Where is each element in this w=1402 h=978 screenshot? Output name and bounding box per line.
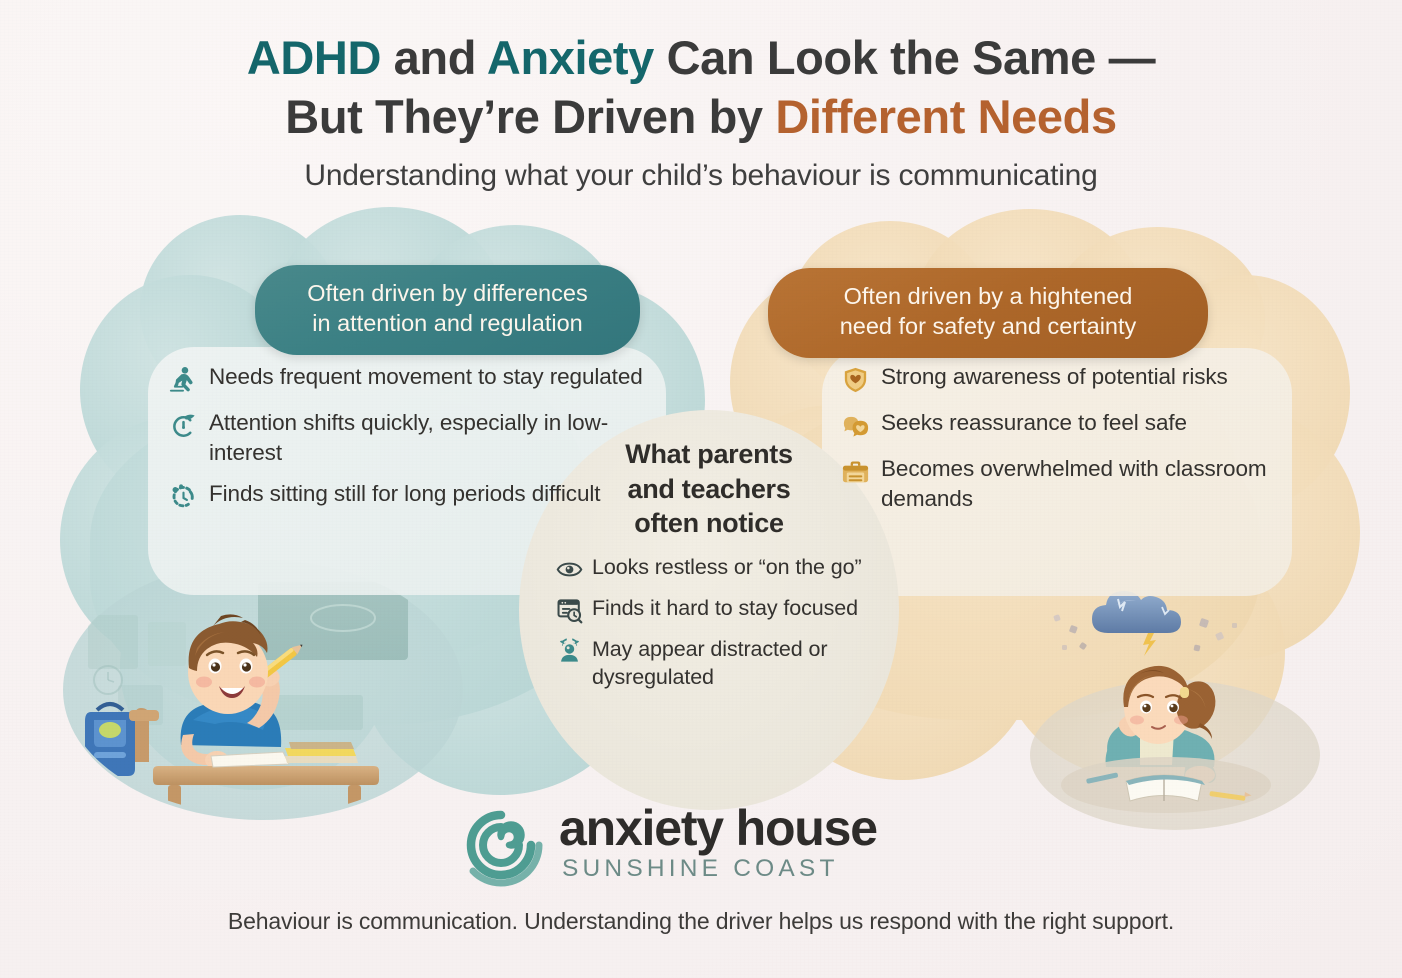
list-item: Finds it hard to stay focused	[556, 594, 866, 624]
spiral-swirl-logo-icon	[455, 799, 547, 891]
right-column-header-pill: Often driven by a hightened need for saf…	[768, 268, 1208, 358]
page-title: ADHD and Anxiety Can Look the Same — But…	[0, 28, 1402, 193]
list-item: Strong awareness of potential risks	[840, 362, 1280, 396]
page-subtitle: Understanding what your child’s behaviou…	[0, 159, 1402, 193]
list-item-label: May appear distracted or dysregulated	[592, 635, 866, 692]
center-column-list: Looks restless or “on the go” Finds it h…	[556, 553, 866, 703]
center-column-heading: What parents and teachers often notice	[544, 437, 874, 541]
title-line-1: ADHD and Anxiety Can Look the Same —	[0, 28, 1402, 87]
title-line-2: But They’re Driven by Different Needs	[0, 87, 1402, 146]
title-accent-different-needs: Different Needs	[775, 90, 1116, 143]
list-item-label: Seeks reassurance to feel safe	[881, 408, 1187, 438]
title-line-2-lead: But They’re Driven by	[285, 90, 775, 143]
list-item: Looks restless or “on the go”	[556, 553, 866, 583]
list-item-label: Needs frequent movement to stay regulate…	[209, 362, 643, 392]
list-item-label: Finds it hard to stay focused	[592, 594, 858, 622]
right-pill-line-2: need for safety and certainty	[794, 311, 1182, 341]
list-item-label: Finds sitting still for long periods dif…	[209, 479, 600, 509]
list-item: Seeks reassurance to feel safe	[840, 408, 1280, 442]
worried-girl-illustration	[1030, 585, 1330, 830]
shield-heart-icon	[840, 365, 871, 396]
person-rotating-arrows-icon	[556, 638, 583, 665]
boy-at-desk-illustration	[63, 560, 463, 835]
infographic-poster: ADHD and Anxiety Can Look the Same — But…	[0, 0, 1402, 978]
list-item-label: Looks restless or “on the go”	[592, 553, 862, 581]
running-person-icon	[168, 365, 199, 396]
title-line-1-rest: Can Look the Same —	[654, 31, 1155, 84]
right-column-list: Strong awareness of potential risks Seek…	[840, 362, 1280, 525]
title-word-and: and	[381, 31, 487, 84]
center-heading-line-1: What parents	[544, 437, 874, 472]
right-pill-line-1: Often driven by a hightened	[794, 281, 1182, 311]
list-item: Becomes overwhelmed with classroom deman…	[840, 454, 1280, 513]
title-word-anxiety: Anxiety	[487, 31, 654, 84]
window-search-clock-icon	[556, 597, 583, 624]
eye-icon	[556, 556, 583, 583]
logo-text: anxiety house SUNSHINE COAST	[559, 804, 877, 887]
footer-caption: Behaviour is communication. Understandin…	[0, 908, 1402, 935]
logo-name: anxiety house	[559, 804, 877, 853]
center-heading-line-3: often notice	[544, 506, 874, 541]
brand-logo: anxiety house SUNSHINE COAST	[455, 797, 915, 893]
list-item-label: Strong awareness of potential risks	[881, 362, 1228, 392]
center-heading-line-2: and teachers	[544, 472, 874, 507]
list-item: May appear distracted or dysregulated	[556, 635, 866, 692]
left-pill-line-2: in attention and regulation	[281, 308, 614, 338]
list-item: Needs frequent movement to stay regulate…	[168, 362, 658, 396]
left-pill-line-1: Often driven by differences	[281, 278, 614, 308]
left-column-header-pill: Often driven by differences in attention…	[255, 265, 640, 355]
title-word-adhd: ADHD	[247, 31, 381, 84]
dotted-clock-icon	[168, 482, 199, 513]
logo-tagline: SUNSHINE COAST	[562, 855, 877, 883]
list-item-label: Becomes overwhelmed with classroom deman…	[881, 454, 1280, 513]
stopwatch-leaf-icon	[168, 411, 199, 442]
